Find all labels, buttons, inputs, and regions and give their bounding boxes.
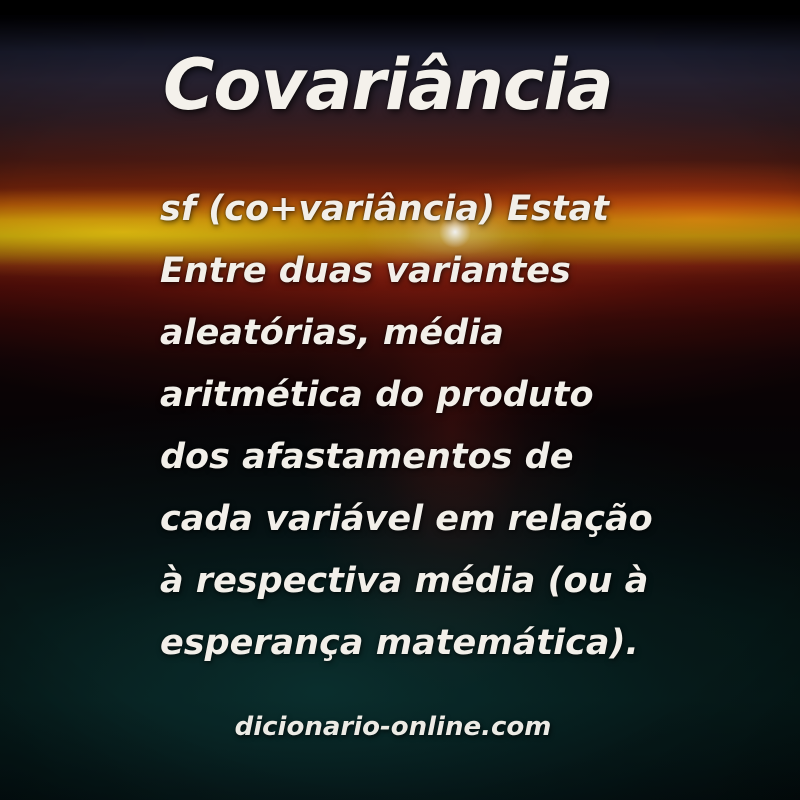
definition-line: sf (co+variância) Estat	[160, 178, 680, 240]
definition-line: esperança matemática).	[160, 612, 680, 674]
definition-line: dos afastamentos de	[160, 426, 680, 488]
definition-line: aleatórias, média	[160, 302, 680, 364]
definition-line: Entre duas variantes	[160, 240, 680, 302]
site-watermark-text: dicionario-online.com	[235, 712, 552, 742]
dictionary-definition-card: Covariância sf (co+variância) Estat Entr…	[0, 0, 800, 800]
content-layer: Covariância sf (co+variância) Estat Entr…	[0, 0, 800, 800]
definition-line: cada variável em relação	[160, 488, 680, 550]
site-watermark: dicionario-online.com	[0, 712, 800, 742]
headword-title: Covariância	[163, 50, 613, 120]
definition-line: à respectiva média (ou à	[160, 550, 680, 612]
definition-line: aritmética do produto	[160, 364, 680, 426]
definition-text-block: sf (co+variância) Estat Entre duas varia…	[160, 178, 680, 674]
